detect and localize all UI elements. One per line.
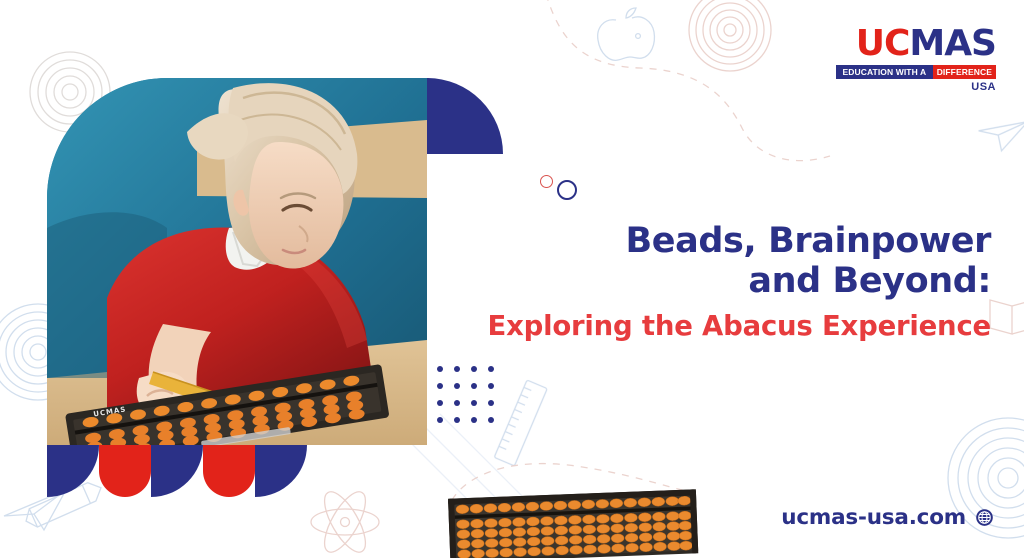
headline-line-2: and Beyond: <box>748 261 991 301</box>
grid-dot <box>488 383 494 389</box>
dashed-path <box>546 0 830 161</box>
grid-dot <box>471 366 477 372</box>
grid-dot <box>454 383 460 389</box>
shape-strip-decor <box>47 445 307 497</box>
logo-tagline-right: DIFFERENCE <box>933 65 996 79</box>
grid-dot <box>488 366 494 372</box>
dot-grid-decor <box>437 366 495 424</box>
grid-dot <box>454 417 460 423</box>
logo-uc-text: UC <box>856 23 910 64</box>
grid-dot <box>437 366 443 372</box>
atom-outline <box>311 486 379 558</box>
ruler-outline <box>494 380 547 466</box>
grid-dot <box>437 400 443 406</box>
headline-block: Beads, Brainpower and Beyond: Exploring … <box>471 222 991 343</box>
quarter-circle-navy <box>47 445 99 497</box>
page-subtitle: Exploring the Abacus Experience <box>471 310 991 343</box>
globe-icon <box>975 508 994 527</box>
abacus-illustration <box>447 486 699 558</box>
website-url-link[interactable]: ucmas-usa.com <box>781 505 994 530</box>
grid-dot <box>454 366 460 372</box>
large-navy-circle-decor <box>557 180 577 200</box>
apple-outline <box>598 8 655 60</box>
page-title: Beads, Brainpower and Beyond: <box>471 222 991 301</box>
logo-tagline-left: EDUCATION WITH A <box>836 65 933 79</box>
quarter-circle-navy <box>255 445 307 497</box>
book-outline <box>990 300 1024 334</box>
logo-country-label: USA <box>836 81 996 93</box>
photo-illustration: UCMAS <box>47 78 427 445</box>
grid-dot <box>471 383 477 389</box>
logo-mas-text: MAS <box>909 23 996 64</box>
grid-dot <box>437 383 443 389</box>
grid-dot <box>471 417 477 423</box>
ucmas-logo[interactable]: UCMAS EDUCATION WITH A DIFFERENCE USA <box>836 26 996 93</box>
website-url-text: ucmas-usa.com <box>781 505 966 530</box>
grid-dot <box>471 400 477 406</box>
photo-frame: UCMAS <box>47 78 427 445</box>
small-red-circle-decor <box>540 175 553 188</box>
dome-red <box>99 445 151 497</box>
logo-tagline-bar: EDUCATION WITH A DIFFERENCE <box>836 65 996 79</box>
grid-dot <box>488 400 494 406</box>
quarter-circle-navy <box>151 445 203 497</box>
paper-plane-outline-right <box>975 108 1024 156</box>
grid-dot <box>454 400 460 406</box>
banner-canvas: UCMAS UCMAS EDUCATION WITH A DIFFERENCE … <box>0 0 1024 558</box>
dome-red <box>203 445 255 497</box>
headline-line-1: Beads, Brainpower <box>625 221 991 261</box>
hero-photo: UCMAS <box>47 78 427 445</box>
grid-dot <box>437 417 443 423</box>
logo-wordmark: UCMAS <box>836 26 996 62</box>
concentric-circles-top <box>689 0 771 71</box>
grid-dot <box>488 417 494 423</box>
